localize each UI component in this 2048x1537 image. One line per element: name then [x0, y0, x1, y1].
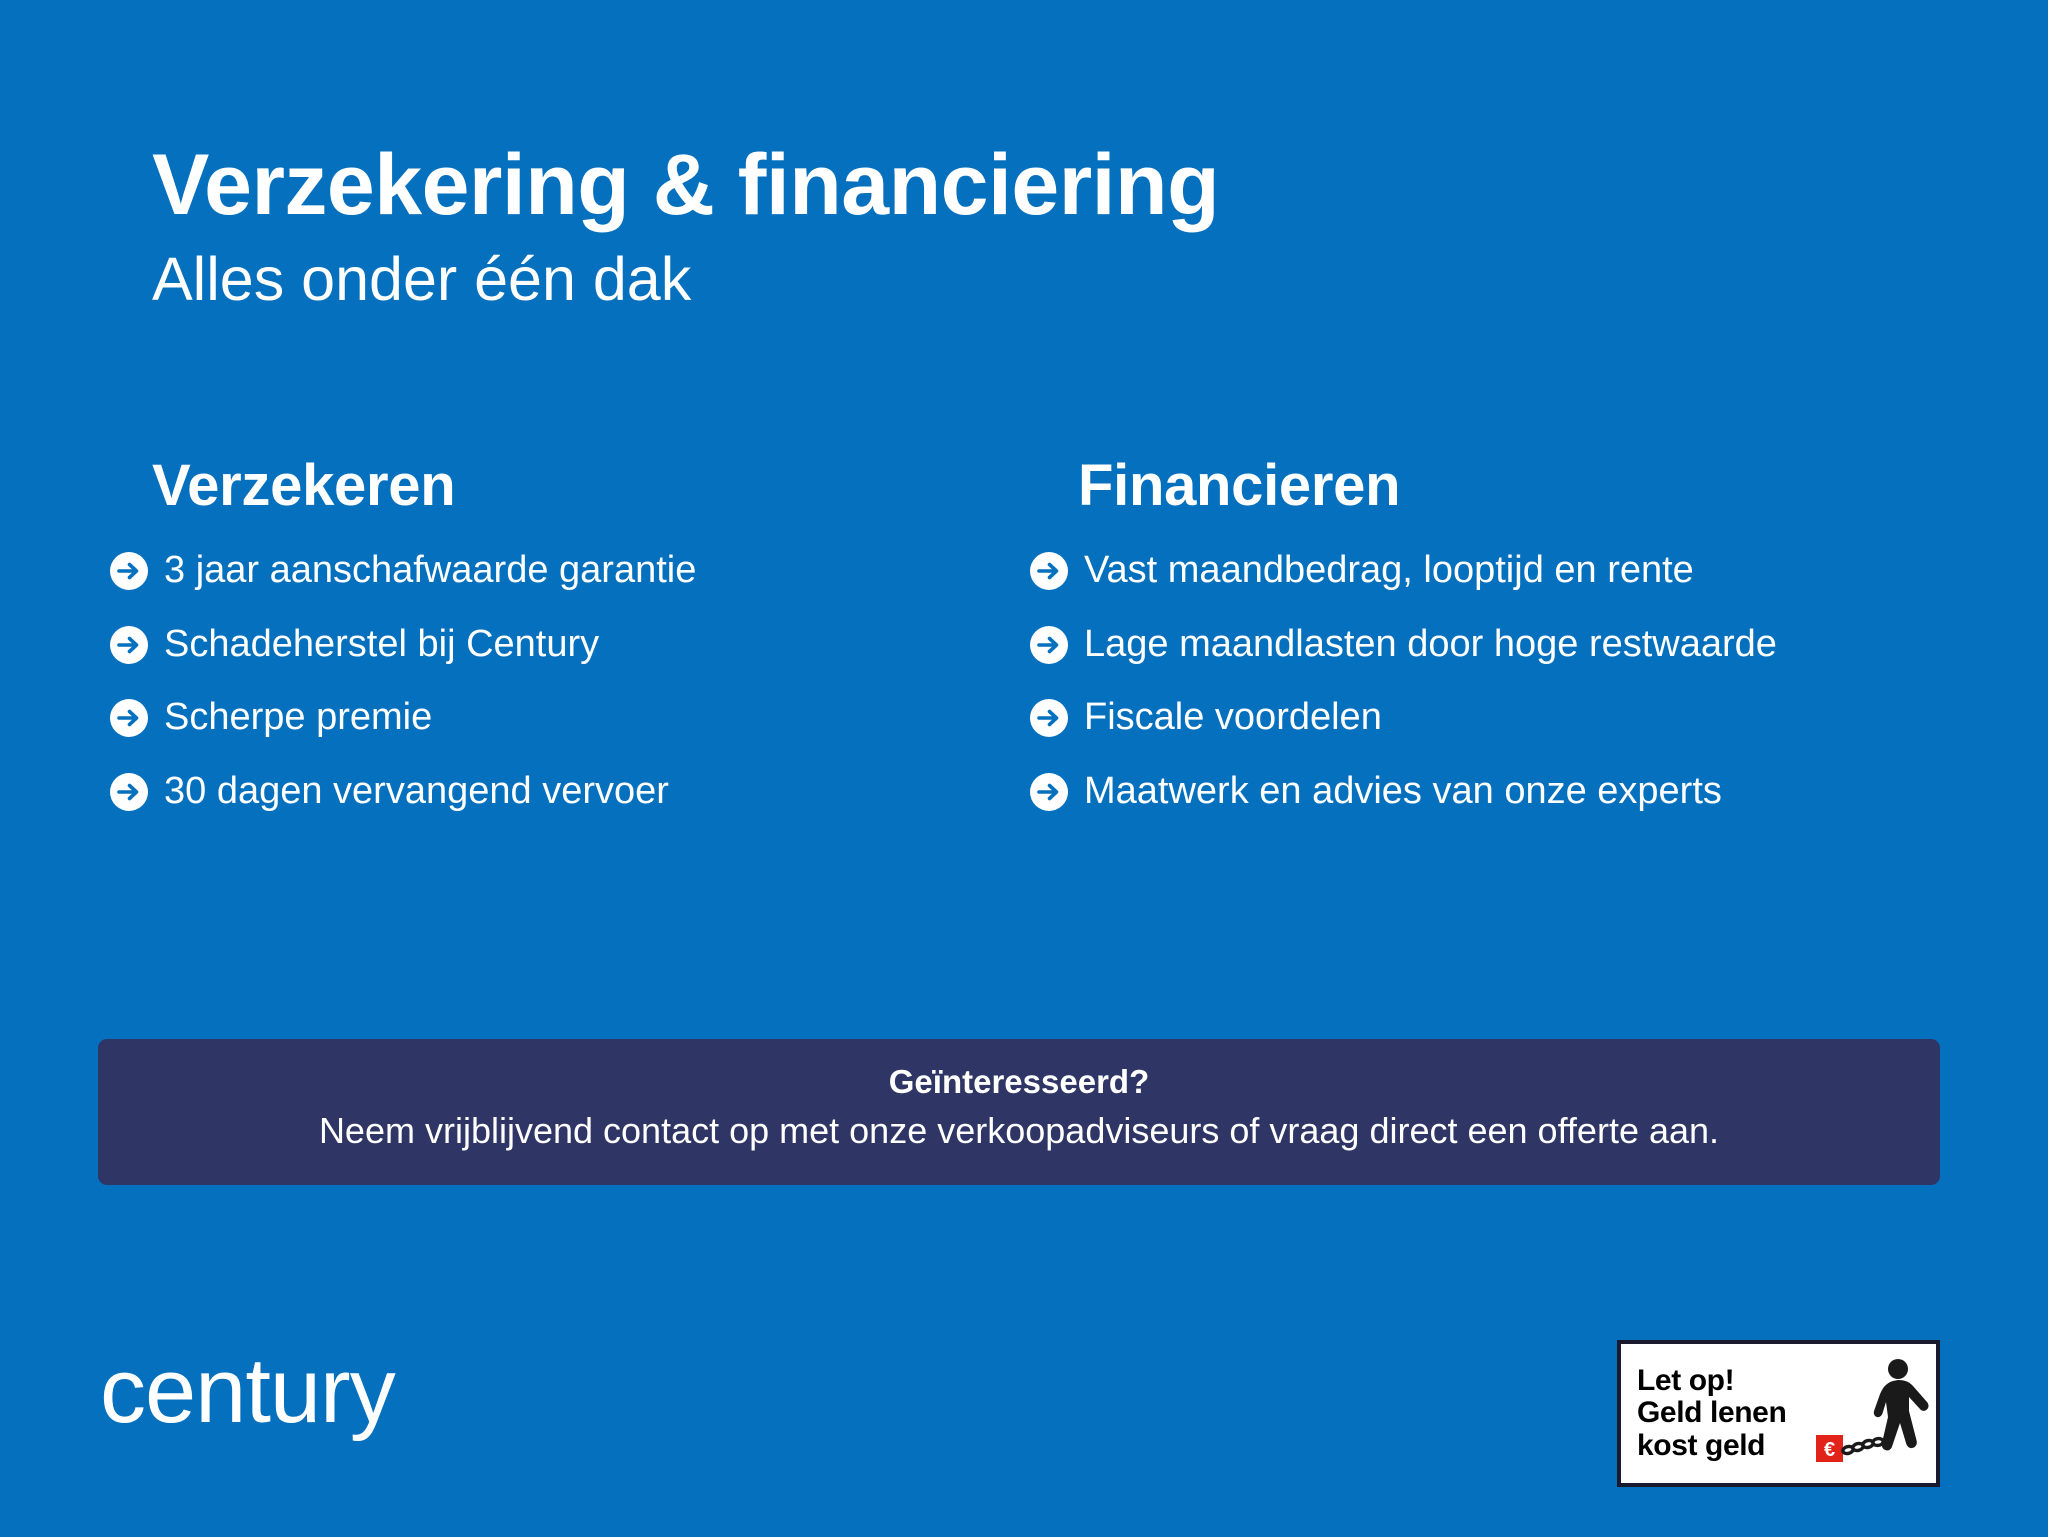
list-item: Scherpe premie [110, 696, 990, 740]
arrow-right-circle-icon [1030, 773, 1068, 811]
bullet-list-financieren: Vast maandbedrag, looptijd en rente Lage… [1030, 549, 1960, 814]
arrow-right-circle-icon [1030, 699, 1068, 737]
list-item-label: Lage maandlasten door hoge restwaarde [1084, 623, 1777, 667]
list-item-label: Fiscale voordelen [1084, 696, 1382, 740]
afm-warning-line-2: Geld lenen [1637, 1396, 1786, 1429]
list-item-label: Scherpe premie [164, 696, 432, 740]
callout-title: Geïnteresseerd? [128, 1063, 1910, 1101]
arrow-right-circle-icon [110, 552, 148, 590]
list-item: Vast maandbedrag, looptijd en rente [1030, 549, 1960, 593]
afm-warning-pictogram: € [1786, 1344, 1936, 1483]
list-item-label: 3 jaar aanschafwaarde garantie [164, 549, 696, 593]
feature-columns: Verzekeren 3 jaar aanschafwaarde garanti… [110, 452, 1960, 814]
list-item-label: Vast maandbedrag, looptijd en rente [1084, 549, 1694, 593]
list-item: Maatwerk en advies van onze experts [1030, 770, 1960, 814]
century-logo: century [100, 1345, 395, 1437]
column-title-verzekeren: Verzekeren [110, 452, 990, 519]
page-title: Verzekering & financiering [152, 140, 1852, 230]
list-item: 3 jaar aanschafwaarde garantie [110, 549, 990, 593]
list-item-label: Maatwerk en advies van onze experts [1084, 770, 1722, 814]
list-item-label: Schadeherstel bij Century [164, 623, 599, 667]
list-item-label: 30 dagen vervangend vervoer [164, 770, 669, 814]
list-item: 30 dagen vervangend vervoer [110, 770, 990, 814]
list-item: Lage maandlasten door hoge restwaarde [1030, 623, 1960, 667]
list-item: Fiscale voordelen [1030, 696, 1960, 740]
arrow-right-circle-icon [110, 626, 148, 664]
chain-icon [1842, 1438, 1883, 1455]
slide-canvas: Verzekering & financiering Alles onder é… [0, 0, 2048, 1537]
arrow-right-circle-icon [110, 699, 148, 737]
arrow-right-circle-icon [1030, 552, 1068, 590]
callout-body: Neem vrijblijvend contact op met onze ve… [128, 1109, 1910, 1152]
column-verzekeren: Verzekeren 3 jaar aanschafwaarde garanti… [110, 452, 990, 814]
afm-warning-line-3: kost geld [1637, 1429, 1765, 1462]
afm-warning-line-1: Let op! [1637, 1364, 1734, 1397]
page-subtitle: Alles onder één dak [152, 244, 1852, 314]
svg-text:€: € [1824, 1439, 1835, 1461]
column-title-financieren: Financieren [1030, 452, 1960, 519]
afm-warning-badge: Let op!Geld lenenkost geld € [1617, 1340, 1940, 1487]
bullet-list-verzekeren: 3 jaar aanschafwaarde garantie Schadeher… [110, 549, 990, 814]
afm-warning-text: Let op!Geld lenenkost geld [1621, 1365, 1786, 1462]
arrow-right-circle-icon [1030, 626, 1068, 664]
column-financieren: Financieren Vast maandbedrag, looptijd e… [1030, 452, 1960, 814]
header-block: Verzekering & financiering Alles onder é… [152, 140, 1852, 314]
arrow-right-circle-icon [110, 773, 148, 811]
euro-box-icon: € [1816, 1435, 1843, 1462]
walking-person-icon [1874, 1359, 1929, 1450]
list-item: Schadeherstel bij Century [110, 623, 990, 667]
callout-box: Geïnteresseerd? Neem vrijblijvend contac… [98, 1039, 1940, 1185]
